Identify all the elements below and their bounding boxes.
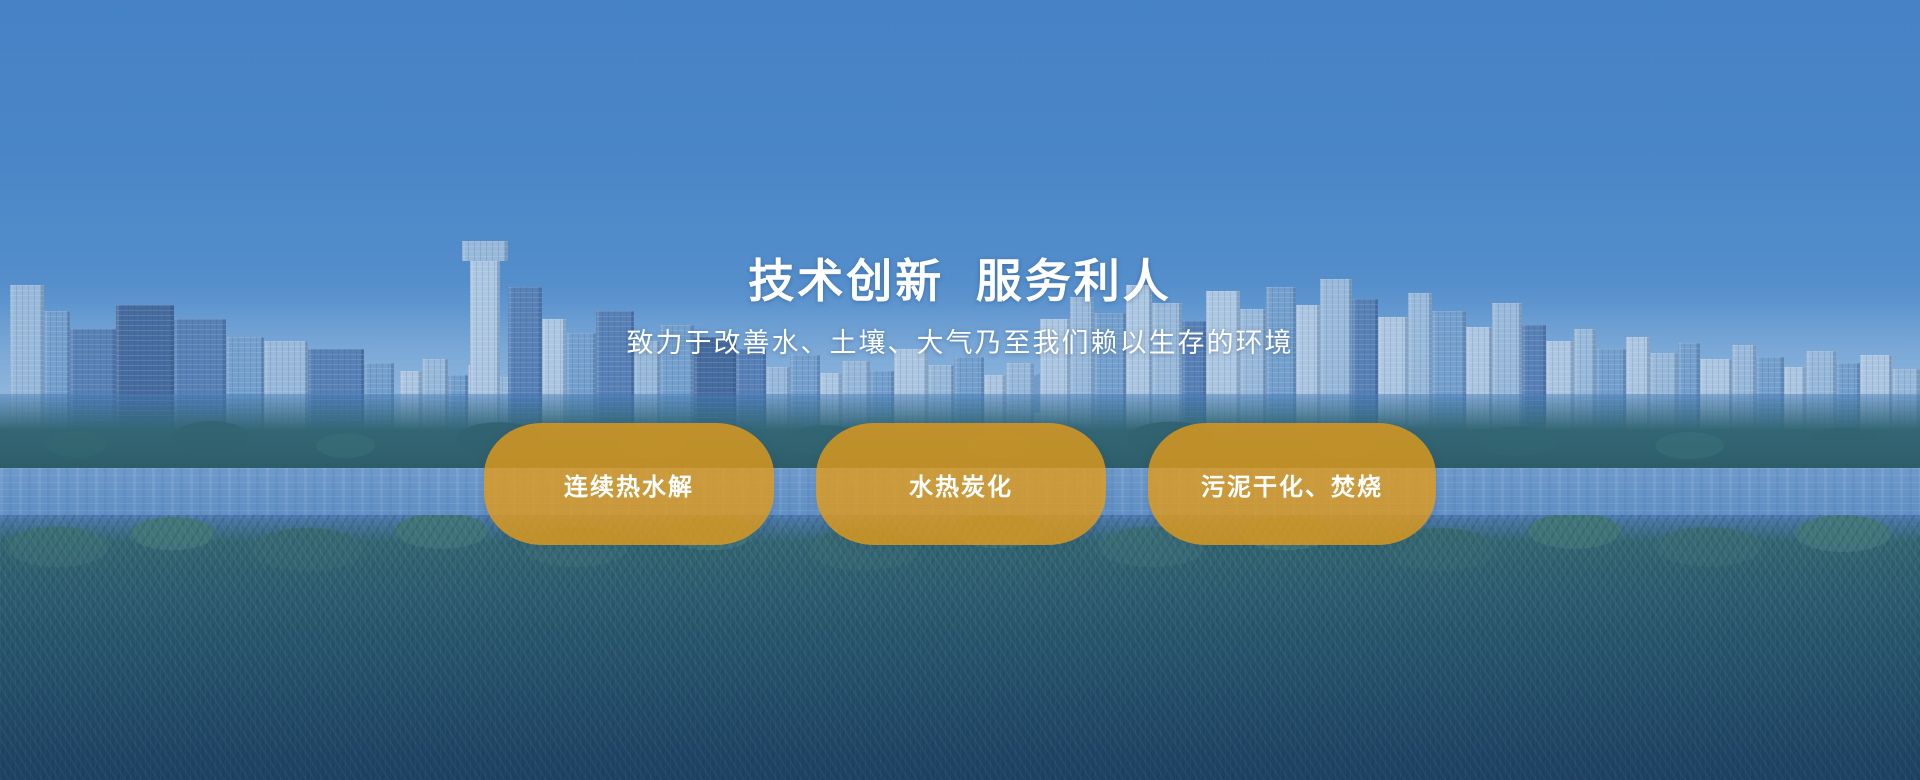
service-button-continuous-thermal-hydrolysis[interactable]: 连续热水解 bbox=[484, 423, 774, 545]
hero-subheadline: 致力于改善水、土壤、大气乃至我们赖以生存的环境 bbox=[627, 330, 1294, 357]
service-button-label: 污泥干化、焚烧 bbox=[1201, 467, 1383, 502]
hero-banner: 技术创新 服务利人 致力于改善水、土壤、大气乃至我们赖以生存的环境 连续热水解 … bbox=[0, 0, 1920, 780]
service-button-label: 水热炭化 bbox=[909, 467, 1013, 502]
hero-headline: 技术创新 服务利人 bbox=[748, 258, 1172, 304]
service-button-hydrothermal-carbonization[interactable]: 水热炭化 bbox=[816, 423, 1106, 545]
service-button-label: 连续热水解 bbox=[564, 467, 694, 502]
service-button-row: 连续热水解 水热炭化 污泥干化、焚烧 bbox=[484, 423, 1436, 545]
service-button-sludge-drying-incineration[interactable]: 污泥干化、焚烧 bbox=[1148, 423, 1436, 545]
hero-content: 技术创新 服务利人 致力于改善水、土壤、大气乃至我们赖以生存的环境 连续热水解 … bbox=[0, 0, 1920, 780]
